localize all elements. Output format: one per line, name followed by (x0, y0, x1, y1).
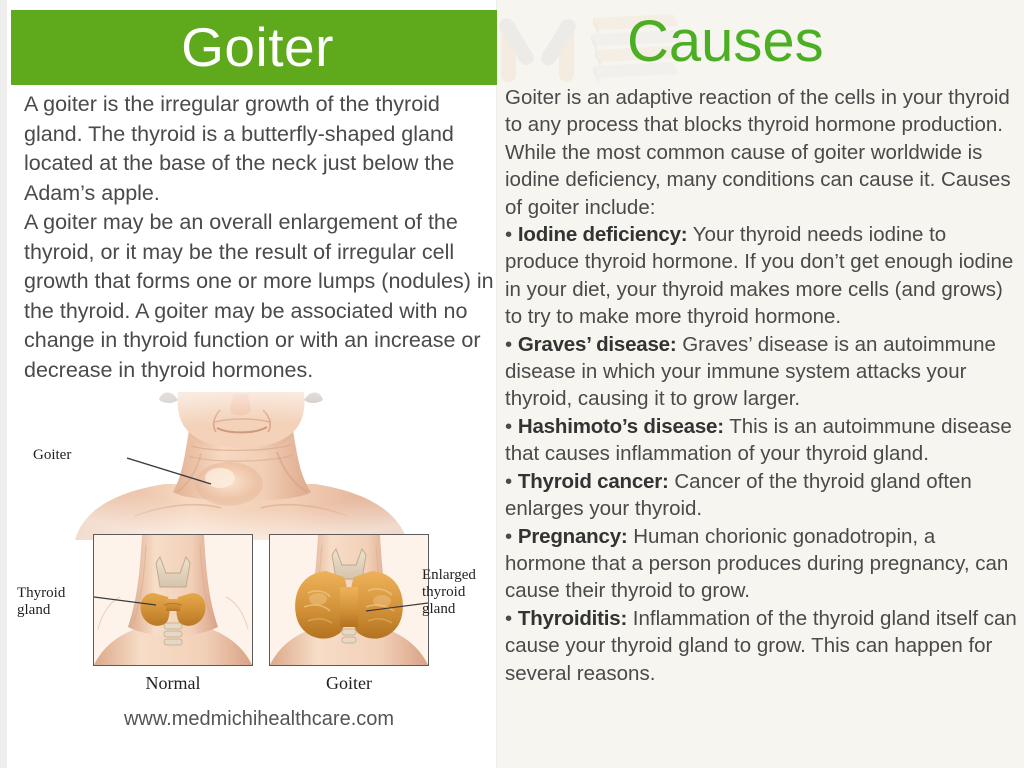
left-paragraph-1: A goiter is the irregular growth of the … (24, 90, 494, 208)
thyroid-gland-callout-label: Thyroid gland (17, 585, 65, 619)
enlarged-thyroid-drawing (270, 535, 428, 665)
neck-with-goiter-figure (15, 392, 495, 540)
left-paragraph-2: A goiter may be an overall enlargement o… (24, 208, 494, 385)
caption-normal: Normal (93, 673, 253, 694)
cause-bullet-thyroid-cancer: • Thyroid cancer: Cancer of the thyroid … (505, 468, 1017, 523)
website-url: www.medmichihealthcare.com (24, 708, 494, 731)
cause-term: Hashimoto’s disease: (518, 415, 724, 438)
cause-bullet-thyroiditis: • Thyroiditis: Inflammation of the thyro… (505, 605, 1017, 687)
caption-goiter: Goiter (269, 673, 429, 694)
infographic-page: Goiter A goiter is the irregular growth … (0, 0, 1024, 768)
cause-bullet-graves-disease: • Graves’ disease: Graves’ disease is an… (505, 331, 1017, 413)
left-body-text: A goiter is the irregular growth of the … (24, 90, 494, 385)
cause-term: Iodine deficiency: (518, 223, 688, 246)
normal-thyroid-drawing (94, 535, 252, 665)
causes-body: Goiter is an adaptive reaction of the ce… (505, 84, 1017, 687)
right-column: Causes Goiter is an adaptive reaction of… (497, 0, 1024, 768)
cause-bullet-iodine-deficiency: • Iodine deficiency: Your thyroid needs … (505, 221, 1017, 331)
left-column: Goiter A goiter is the irregular growth … (7, 0, 496, 768)
cause-term: Pregnancy: (518, 525, 628, 548)
goiter-callout-label: Goiter (33, 447, 71, 464)
cause-term: Thyroiditis: (518, 607, 627, 630)
causes-title: Causes (627, 6, 824, 78)
causes-intro-paragraph: Goiter is an adaptive reaction of the ce… (505, 84, 1017, 221)
cause-term: Thyroid cancer: (518, 470, 669, 493)
normal-thyroid-panel (93, 534, 253, 666)
goiter-title-bar: Goiter (11, 10, 504, 85)
cause-term: Graves’ disease: (518, 333, 677, 356)
goiter-thyroid-panel (269, 534, 429, 666)
enlarged-thyroid-callout-label: Enlarged thyroid gland (422, 567, 476, 618)
cause-bullet-hashimotos-disease: • Hashimoto’s disease: This is an autoim… (505, 413, 1017, 468)
page-title: Goiter (181, 20, 334, 75)
cause-bullet-pregnancy: • Pregnancy: Human chorionic gonadotropi… (505, 523, 1017, 605)
